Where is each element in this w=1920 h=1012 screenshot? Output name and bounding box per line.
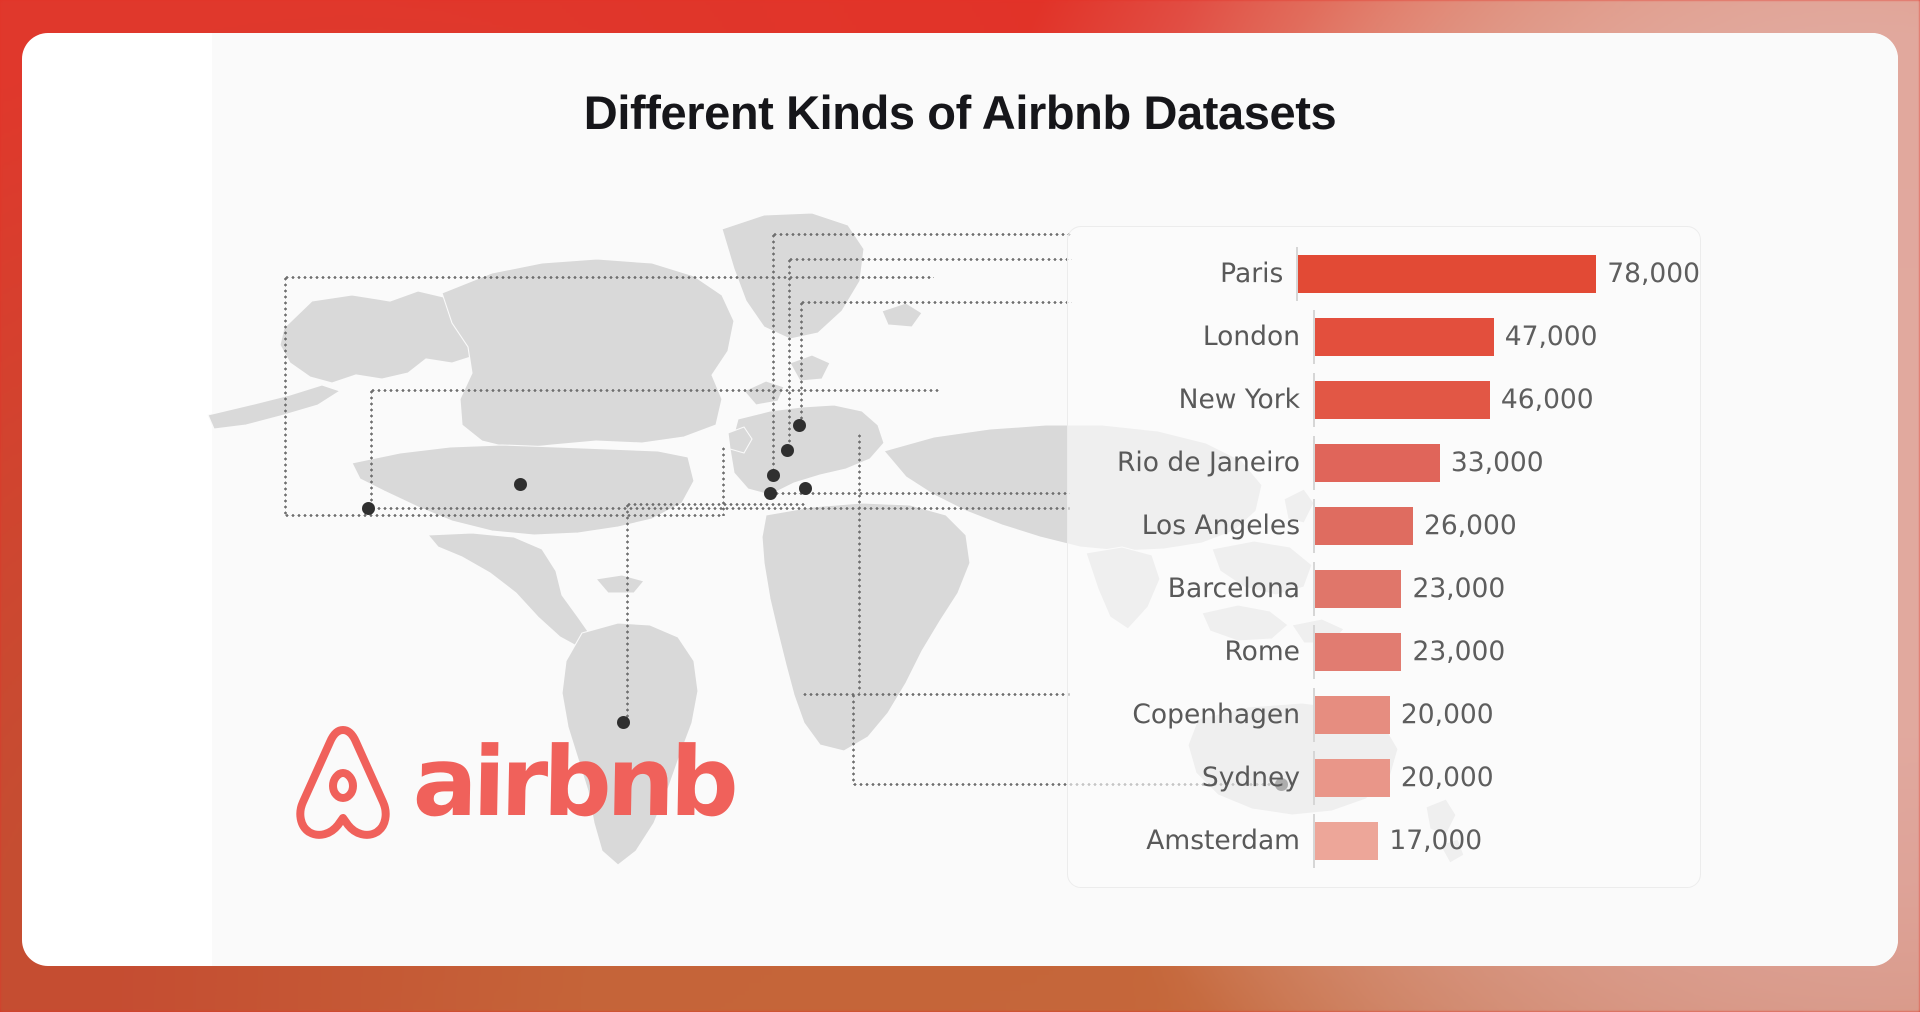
city-marker-london (767, 469, 780, 482)
bar-value-label: 47,000 (1494, 321, 1598, 352)
bar-value-label: 26,000 (1413, 510, 1517, 541)
chart-axis-line (1313, 562, 1315, 616)
bar-track: 17,000 (1313, 822, 1700, 860)
connector-line (800, 301, 1072, 304)
connector-line (772, 233, 1072, 236)
bar-track: 20,000 (1313, 696, 1700, 734)
connector-line (284, 276, 287, 516)
airbnb-logo: airbnb (287, 723, 734, 841)
bar-value-label: 23,000 (1401, 636, 1505, 667)
bar (1313, 633, 1401, 671)
city-marker-amsterdam (781, 444, 794, 457)
chart-axis-line (1313, 814, 1315, 868)
bar (1313, 507, 1413, 545)
city-marker-rome (799, 482, 812, 495)
connector-line (858, 433, 861, 693)
page-title: Different Kinds of Airbnb Datasets (22, 85, 1898, 140)
bar (1313, 381, 1490, 419)
bar-track: 23,000 (1313, 633, 1700, 671)
bar-track: 47,000 (1313, 318, 1700, 356)
bar-track: 23,000 (1313, 570, 1700, 608)
bar-chart-row: Amsterdam17,000 (1068, 809, 1700, 872)
bar (1296, 255, 1596, 293)
bar (1313, 318, 1494, 356)
chart-axis-line (1296, 247, 1298, 301)
bar-chart-row: Rome23,000 (1068, 620, 1700, 683)
bar-value-label: 78,000 (1596, 258, 1700, 289)
bar-value-label: 33,000 (1440, 447, 1544, 478)
bar-chart-row: Los Angeles26,000 (1068, 494, 1700, 557)
chart-axis-line (1313, 625, 1315, 679)
chart-axis-line (1313, 499, 1315, 553)
bar-chart-panel: Paris78,000London47,000New York46,000Rio… (1067, 226, 1701, 888)
chart-axis-line (1313, 310, 1315, 364)
bar-value-label: 20,000 (1390, 699, 1494, 730)
connector-line (772, 233, 775, 478)
connector-line (370, 389, 373, 509)
connector-line (370, 389, 940, 392)
content-card: Different Kinds of Airbnb Datasets airbn… (22, 33, 1898, 966)
bar-value-label: 20,000 (1390, 762, 1494, 793)
bar-track: 26,000 (1313, 507, 1700, 545)
chart-axis-line (1313, 373, 1315, 427)
bar-category-label: Sydney (1068, 762, 1313, 793)
bar-chart-row: Paris78,000 (1068, 242, 1700, 305)
airbnb-wordmark: airbnb (412, 744, 734, 821)
bar-chart-rows: Paris78,000London47,000New York46,000Rio… (1068, 242, 1700, 872)
connector-line (800, 301, 803, 429)
chart-axis-line (1313, 751, 1315, 805)
connector-line (284, 514, 724, 517)
bar-chart-row: Barcelona23,000 (1068, 557, 1700, 620)
bar-chart-row: London47,000 (1068, 305, 1700, 368)
bar-chart-row: Sydney20,000 (1068, 746, 1700, 809)
bar-category-label: Los Angeles (1068, 510, 1313, 541)
bar-category-label: Barcelona (1068, 573, 1313, 604)
chart-axis-line (1313, 436, 1315, 490)
airbnb-belo-icon (287, 723, 399, 841)
bar-category-label: London (1068, 321, 1313, 352)
city-marker-los-angeles (362, 502, 375, 515)
bar-category-label: Rio de Janeiro (1068, 447, 1313, 478)
bar-track: 33,000 (1313, 444, 1700, 482)
chart-axis-line (1313, 688, 1315, 742)
connector-line (802, 693, 1070, 696)
bar-category-label: New York (1068, 384, 1313, 415)
bar-value-label: 17,000 (1378, 825, 1482, 856)
connector-line (626, 503, 806, 506)
bar-category-label: Rome (1068, 636, 1313, 667)
bar-track: 46,000 (1313, 381, 1700, 419)
bar-value-label: 23,000 (1401, 573, 1505, 604)
bar-category-label: Copenhagen (1068, 699, 1313, 730)
bar-value-label: 46,000 (1490, 384, 1594, 415)
bar (1313, 444, 1440, 482)
bar (1313, 696, 1390, 734)
connector-line (788, 258, 791, 454)
bar-category-label: Amsterdam (1068, 825, 1313, 856)
bar-chart-row: Rio de Janeiro33,000 (1068, 431, 1700, 494)
bar-track: 20,000 (1313, 759, 1700, 797)
bar (1313, 570, 1401, 608)
connector-line (774, 492, 1070, 495)
bar-category-label: Paris (1068, 258, 1296, 289)
bar (1313, 759, 1390, 797)
city-marker-copenhagen (793, 419, 806, 432)
city-marker-paris (764, 487, 777, 500)
connector-line (370, 507, 1070, 510)
connector-line (852, 693, 855, 785)
bar-chart-row: New York46,000 (1068, 368, 1700, 431)
bar (1313, 822, 1378, 860)
city-marker-new-york (514, 478, 527, 491)
bar-chart-row: Copenhagen20,000 (1068, 683, 1700, 746)
connector-line (284, 276, 934, 279)
connector-line (788, 258, 1072, 261)
bar-track: 78,000 (1296, 255, 1700, 293)
connector-line (626, 503, 629, 723)
